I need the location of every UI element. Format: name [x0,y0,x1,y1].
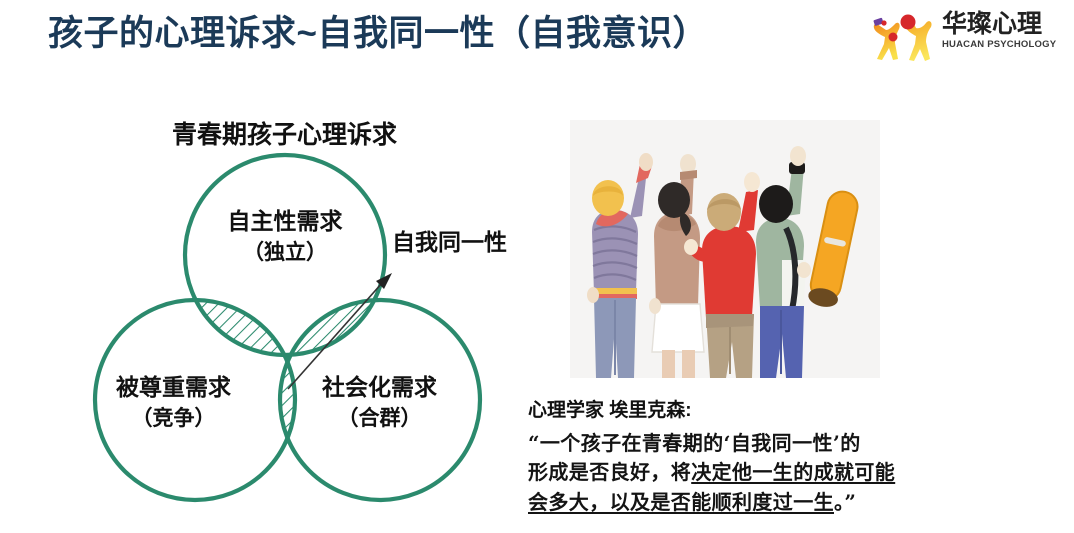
quote-line-2-underlined: 决定他一生的成就可能 [691,460,895,484]
venn-callout-label-identity: 自我同一性 [392,223,507,257]
venn-label-respect-sub: （竞争） [76,406,271,432]
quote-line-2: 形成是否良好，将决定他一生的成就可能 [528,458,998,488]
venn-label-social-sub: （合群） [282,406,477,432]
quote-line-3: 会多大，以及是否能顺利度过一生。” [528,488,998,518]
venn-label-social: 社会化需求 （合群） [282,373,477,432]
two-figures-logo-icon [868,10,938,64]
quote-author: 心理学家 埃里克森: [528,398,998,425]
quote-line-2-plain: 形成是否良好，将 [528,460,691,484]
slide-root: 孩子的心理诉求~自我同一性（自我意识） [0,0,1074,533]
venn-label-autonomy-main: 自主性需求 [190,207,380,236]
quote-line-3-tail: 。” [834,490,856,514]
venn-label-autonomy: 自主性需求 （独立） [190,207,380,266]
quote-body: “一个孩子在青春期的‘自我同一性’的 形成是否良好，将决定他一生的成就可能 会多… [528,429,998,518]
teens-photo [570,120,880,378]
venn-label-autonomy-sub: （独立） [190,240,380,266]
venn-label-social-main: 社会化需求 [282,373,477,402]
logo-name-en: HUACAN PSYCHOLOGY [942,39,1060,50]
logo-name-cn: 华璨心理 [942,10,1060,38]
quote-line-1: “一个孩子在青春期的‘自我同一性’的 [528,429,998,459]
quote-line-3-underlined: 会多大，以及是否能顺利度过一生 [528,490,834,514]
quote-block: 心理学家 埃里克森: “一个孩子在青春期的‘自我同一性’的 形成是否良好，将决定… [528,398,998,517]
venn-label-respect-main: 被尊重需求 [76,373,271,402]
venn-circles-svg [60,105,540,525]
page-title: 孩子的心理诉求~自我同一性（自我意识） [48,12,708,56]
venn-diagram: 青春期孩子心理诉求 [60,105,540,525]
identity-callout-arrow-icon [288,273,392,389]
venn-label-respect: 被尊重需求 （竞争） [76,373,271,432]
logo-text: 华璨心理 HUACAN PSYCHOLOGY [942,10,1060,50]
brand-logo: 华璨心理 HUACAN PSYCHOLOGY [868,8,1060,66]
four-teens-raising-arms-illustration [570,120,880,378]
